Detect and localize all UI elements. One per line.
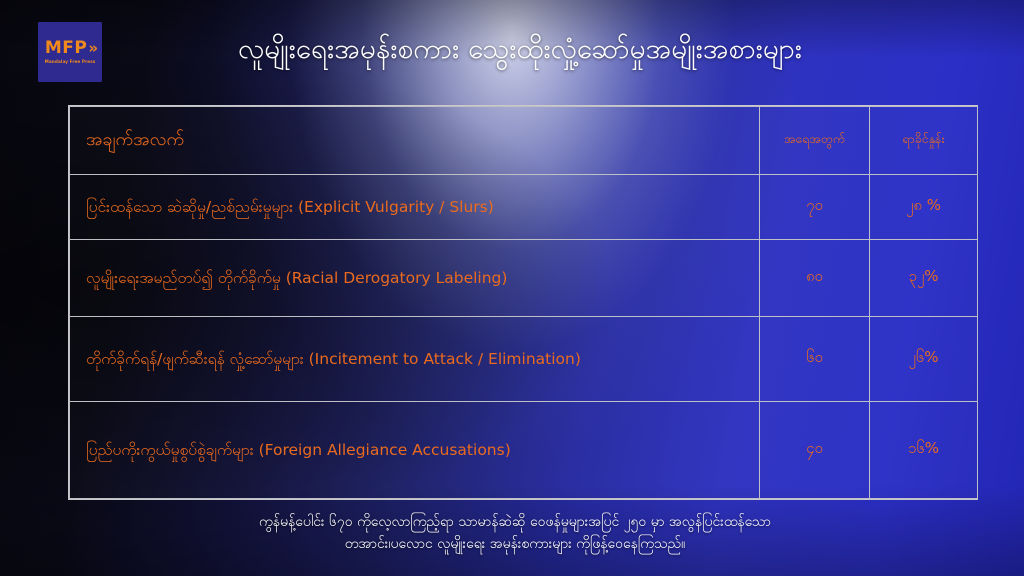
row-label: တိုက်ခိုက်ရန်/ဖျက်ဆီးရန် လှုံ့ဆော်မှုမျာ…: [70, 317, 760, 402]
header-percent: ရာခိုင်နှုန်း: [870, 107, 978, 175]
row-count: ၄၀: [760, 402, 870, 499]
mfp-logo: MFP » Mandalay Free Press: [38, 22, 102, 82]
row-count: ၆၀: [760, 317, 870, 402]
data-table-container: အချက်အလက် အရေအတွက် ရာခိုင်နှုန်း ပြင်းထန…: [68, 105, 978, 500]
table-body: ပြင်းထန်သော ဆဲဆိုမှု/ညစ်ညမ်းမှုများ (Exp…: [70, 175, 978, 499]
footer-caption: ကွန်မန့်ပေါင်း ၆၇၀ ကိုလေ့လာကြည့်ရာ သာမာန…: [120, 512, 910, 555]
row-label: လူမျိုးရေးအမည်တပ်၍ တိုက်ခိုက်မှု (Racial…: [70, 240, 760, 317]
row-percent: ၁၆%: [870, 402, 978, 499]
logo-mark-text: MFP: [45, 40, 88, 57]
table-row: ပြင်းထန်သော ဆဲဆိုမှု/ညစ်ညမ်းမှုများ (Exp…: [70, 175, 978, 240]
row-count: ၇၀: [760, 175, 870, 240]
hate-speech-category-table: အချက်အလက် အရေအတွက် ရာခိုင်နှုန်း ပြင်းထန…: [69, 106, 978, 499]
slide-canvas: MFP » Mandalay Free Press လူမျိုးရေးအမုန…: [0, 0, 1024, 576]
row-label: ပြည်ပကိုးကွယ်မှုစွပ်စွဲချက်များ (Foreign…: [70, 402, 760, 499]
row-count: ၈၀: [760, 240, 870, 317]
table-header: အချက်အလက် အရေအတွက် ရာခိုင်နှုန်း: [70, 107, 978, 175]
logo-wordmark: MFP »: [45, 40, 95, 57]
row-label: ပြင်းထန်သော ဆဲဆိုမှု/ညစ်ညမ်းမှုများ (Exp…: [70, 175, 760, 240]
row-percent: ၂၆%: [870, 317, 978, 402]
row-percent: ၃၂%: [870, 240, 978, 317]
page-title: လူမျိုးရေးအမုန်းစကား သွေးထိုးလှုံ့ဆော်မှ…: [150, 30, 890, 68]
table-row: ပြည်ပကိုးကွယ်မှုစွပ်စွဲချက်များ (Foreign…: [70, 402, 978, 499]
footer-line-1: ကွန်မန့်ပေါင်း ၆၇၀ ကိုလေ့လာကြည့်ရာ သာမာန…: [120, 512, 910, 534]
table-row: တိုက်ခိုက်ရန်/ဖျက်ဆီးရန် လှုံ့ဆော်မှုမျာ…: [70, 317, 978, 402]
footer-line-2: တအာင်း၊ပလောင လူမျိုးရေး အမုန်းစကားများ က…: [120, 534, 910, 556]
header-count: အရေအတွက်: [760, 107, 870, 175]
table-header-row: အချက်အလက် အရေအတွက် ရာခိုင်နှုန်း: [70, 107, 978, 175]
header-label: အချက်အလက်: [70, 107, 760, 175]
logo-chevron-icon: »: [88, 41, 95, 56]
row-percent: ၂၈ %: [870, 175, 978, 240]
logo-tagline: Mandalay Free Press: [45, 59, 96, 64]
table-row: လူမျိုးရေးအမည်တပ်၍ တိုက်ခိုက်မှု (Racial…: [70, 240, 978, 317]
